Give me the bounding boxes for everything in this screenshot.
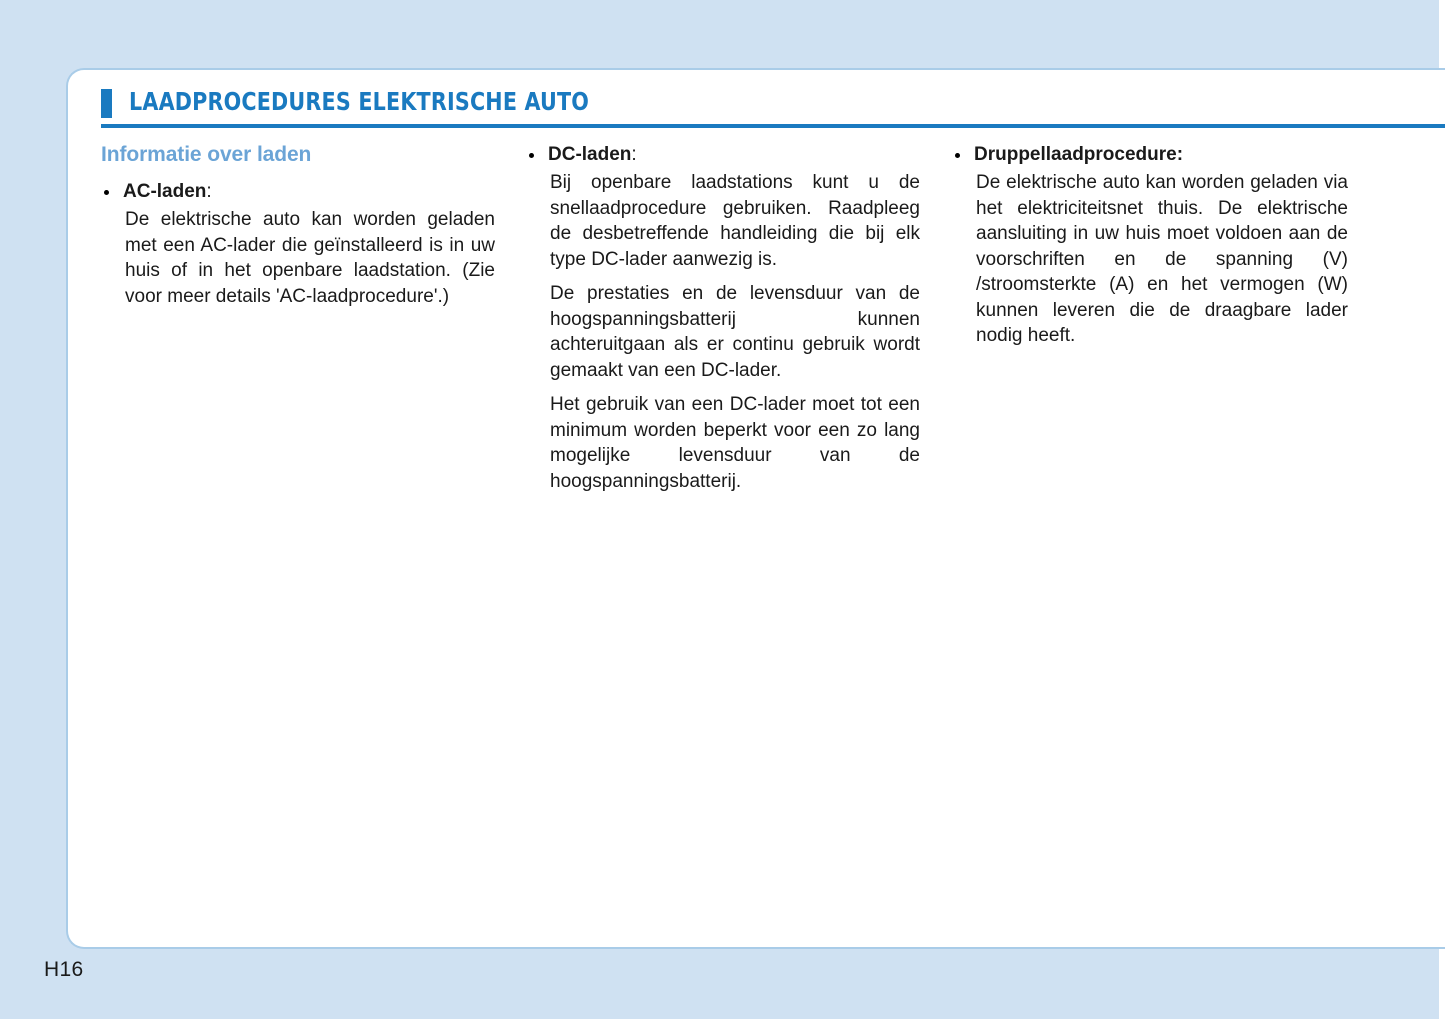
bullet-label-ac-laden: AC-laden: [123, 179, 495, 205]
page-number: H16 [44, 958, 83, 982]
column-2: DC-laden: Bij openbare laadstations kunt… [526, 142, 920, 494]
page-title: LAADPROCEDURES ELEKTRISCHE AUTO [129, 87, 589, 117]
title-underline-rule [101, 124, 1445, 128]
bullet-block-dc-laden: DC-laden: Bij openbare laadstations kunt… [526, 142, 920, 494]
column-1-heading: Informatie over laden [101, 142, 495, 168]
page-content-card: LAADPROCEDURES ELEKTRISCHE AUTO Informat… [66, 68, 1445, 949]
bullet-label-druppellaadprocedure: Druppellaadprocedure: [974, 142, 1348, 168]
bullet-dot-icon [104, 190, 109, 195]
bullet-label-bold-text: DC-laden [548, 144, 631, 165]
column-1: Informatie over laden AC-laden: De elekt… [101, 142, 495, 309]
paragraph-dc-laden-2: De prestaties en de levensduur van de ho… [548, 281, 920, 383]
section-title-row: LAADPROCEDURES ELEKTRISCHE AUTO [101, 87, 1445, 125]
paragraph-druppellaadprocedure-1: De elektrische auto kan worden geladen v… [974, 170, 1348, 349]
title-accent-bar [101, 89, 112, 118]
bullet-label-dc-laden: DC-laden: [548, 142, 920, 168]
bullet-label-bold-text: Druppellaadprocedure: [974, 144, 1183, 165]
paragraph-dc-laden-3: Het gebruik van een DC-lader moet tot ee… [548, 392, 920, 494]
bullet-dot-icon [955, 153, 960, 158]
paragraph-dc-laden-1: Bij openbare laadstations kunt u de snel… [548, 170, 920, 272]
column-3: Druppellaadprocedure: De elektrische aut… [952, 142, 1348, 349]
bullet-label-suffix: : [206, 181, 211, 202]
bullet-block-ac-laden: AC-laden: De elektrische auto kan worden… [101, 179, 495, 309]
bullet-label-bold-text: AC-laden [123, 181, 206, 202]
bullet-label-suffix: : [631, 144, 636, 165]
bullet-dot-icon [529, 153, 534, 158]
bullet-block-druppellaadprocedure: Druppellaadprocedure: De elektrische aut… [952, 142, 1348, 349]
paragraph-ac-laden-1: De elektrische auto kan worden geladen m… [123, 207, 495, 309]
three-column-body: Informatie over laden AC-laden: De elekt… [68, 142, 1445, 947]
